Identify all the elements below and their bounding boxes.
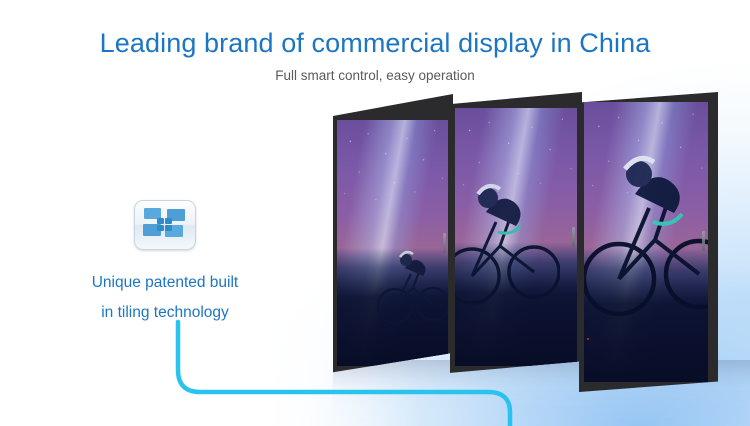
feature-block: Unique patented built in tiling technolo…: [0, 200, 330, 328]
feature-line-2: in tiling technology: [101, 304, 229, 321]
panel-brand-mark: [572, 227, 575, 247]
display-panel-1: [333, 92, 453, 374]
tiling-grid-icon[interactable]: [134, 200, 196, 250]
panel-3-image: [584, 102, 708, 382]
starfield: [455, 108, 577, 268]
feature-line-1: Unique patented built: [92, 274, 239, 291]
starfield: [584, 102, 708, 276]
starfield: [337, 120, 448, 273]
panel-3-screen: [579, 92, 718, 392]
display-panel-3: [579, 92, 718, 392]
panel-power-led: [587, 338, 589, 340]
page-title: Leading brand of commercial display in C…: [0, 0, 750, 59]
panel-1-image: [337, 120, 448, 366]
panel-1-screen: [333, 92, 453, 374]
promo-banner: Leading brand of commercial display in C…: [0, 0, 750, 426]
three-panel-video-wall: [330, 92, 750, 392]
panel-2-screen: [450, 92, 582, 374]
page-subtitle: Full smart control, easy operation: [0, 59, 750, 83]
banner-header: Leading brand of commercial display in C…: [0, 0, 750, 83]
tiling-grid-glyph: [141, 206, 189, 244]
feature-caption: Unique patented built in tiling technolo…: [0, 250, 330, 328]
panel-brand-mark: [702, 231, 705, 251]
display-panel-2: [450, 92, 582, 374]
panel-2-image: [455, 108, 577, 366]
panel-brand-mark: [443, 233, 446, 253]
